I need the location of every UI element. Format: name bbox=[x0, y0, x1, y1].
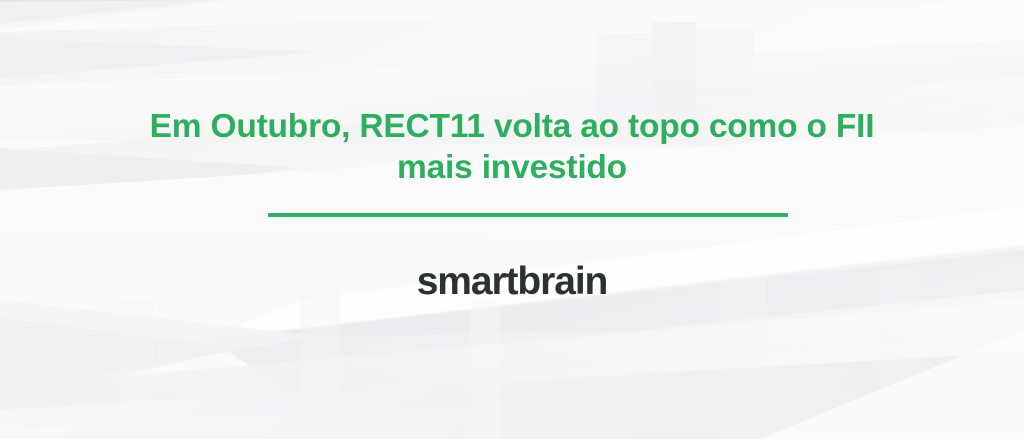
title-divider bbox=[268, 213, 788, 217]
brand-logo: smartbrain bbox=[417, 260, 608, 304]
page-title: Em Outubro, RECT11 volta ao topo como o … bbox=[132, 106, 892, 188]
banner-canvas: Em Outubro, RECT11 volta ao topo como o … bbox=[0, 0, 1024, 439]
banner-content: Em Outubro, RECT11 volta ao topo como o … bbox=[0, 0, 1024, 439]
